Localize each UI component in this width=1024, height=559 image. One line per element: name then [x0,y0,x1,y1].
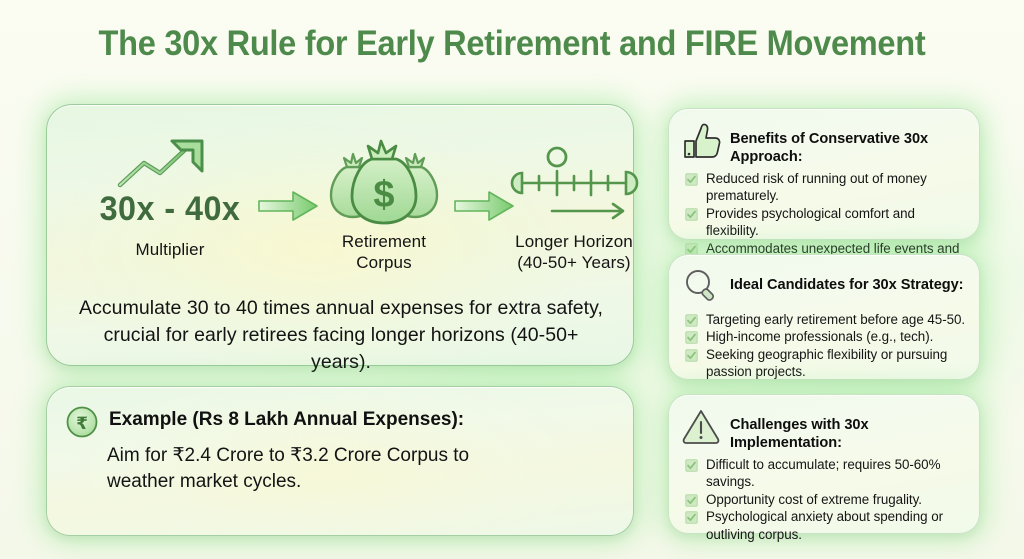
side-card-item: Seeking geographic flexibility or pursui… [706,346,947,363]
svg-text:$: $ [373,174,394,216]
check-square-icon [685,314,698,327]
check-square-icon [685,511,698,524]
side-card-title: Challenges with 30x Implementation: [730,407,969,452]
side-card-item: Opportunity cost of extreme frugality. [706,491,922,508]
side-card-item: Difficult to accumulate; requires 50-60%… [706,456,969,491]
side-card-item-continuation: outliving corpus. [706,526,969,543]
warning-triangle-icon [681,407,723,447]
multiplier-label: Multiplier [75,239,265,260]
rupee-coin-icon: ₹ [65,405,99,439]
side-card-item: Targeting early retirement before age 45… [706,311,965,328]
example-title: Example (Rs 8 Lakh Annual Expenses): [109,405,464,432]
retirement-corpus-label: Retirement Corpus [284,231,484,273]
longer-horizon-label: Longer Horizon (40-50+ Years) [479,231,669,273]
side-card-title: Benefits of Conservative 30x Approach: [730,121,969,166]
side-card-item: Psychological anxiety about spending or [706,508,943,525]
svg-text:₹: ₹ [76,414,88,434]
infographic-canvas: The 30x Rule for Early Retirement and FI… [0,0,1024,559]
check-square-icon [685,331,698,344]
main-concept-card: 30x - 40x Multiplier [46,104,634,366]
side-card-ideal-candidates: Ideal Candidates for 30x Strategy: Targe… [668,254,980,380]
side-card-item: Reduced risk of running out of money pre… [706,170,969,205]
multiplier-value: 30x - 40x [80,191,261,227]
check-square-icon [685,173,698,186]
check-square-icon [685,494,698,507]
check-square-icon [685,459,698,472]
check-square-icon [685,349,698,362]
trending-up-arrow-icon [75,137,265,191]
timeline-ruler-icon [479,137,669,227]
example-card: ₹ Example (Rs 8 Lakh Annual Expenses): A… [46,386,634,536]
flow-diagram: 30x - 40x Multiplier [47,137,635,287]
side-card-item: High-income professionals (e.g., tech). [706,328,933,345]
flow-node-multiplier: 30x - 40x Multiplier [75,137,265,260]
main-description: Accumulate 30 to 40 times annual expense… [73,295,609,376]
side-card-benefits: Benefits of Conservative 30x Approach: R… [668,108,980,240]
side-card-title: Ideal Candidates for 30x Strategy: [730,267,964,294]
example-body: Aim for ₹2.4 Crore to ₹3.2 Crore Corpus … [107,443,527,495]
side-card-challenges: Challenges with 30x Implementation: Diff… [668,394,980,534]
thumbs-up-icon [681,121,723,161]
check-square-icon [685,208,698,221]
side-card-item-continuation: passion projects. [706,363,969,380]
flow-node-longer-horizon: Longer Horizon (40-50+ Years) [479,137,669,273]
page-title: The 30x Rule for Early Retirement and FI… [36,24,988,64]
side-card-item: Provides psychological comfort and flexi… [706,205,969,240]
magnifier-icon [681,267,723,307]
